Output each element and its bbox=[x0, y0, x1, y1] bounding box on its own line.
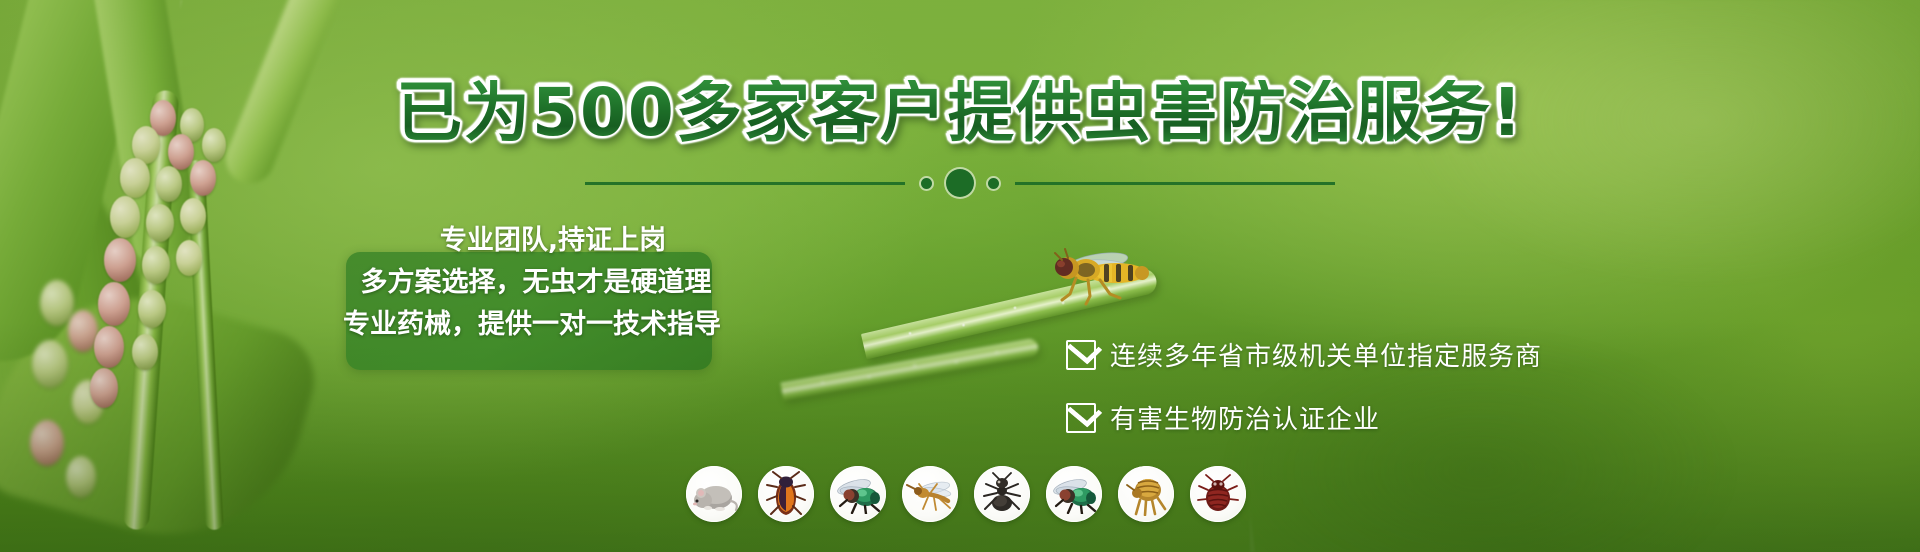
decorative-divider bbox=[0, 166, 1920, 200]
credentials-checklist: 连续多年省市级机关单位指定服务商 有害生物防治认证企业 bbox=[1066, 336, 1542, 436]
pest-icon-blowfly[interactable] bbox=[830, 466, 886, 522]
divider-dot-small-left bbox=[921, 178, 932, 189]
credential-item-1: 连续多年省市级机关单位指定服务商 bbox=[1066, 336, 1542, 373]
pest-icon-ant[interactable] bbox=[974, 466, 1030, 522]
promo-banner: 已为500多家客户提供虫害防治服务! 专业团队,持证上岗 多方案选择，无虫才是硬… bbox=[0, 0, 1920, 552]
checkbox-checked-icon bbox=[1066, 403, 1096, 433]
credential-label-2: 有害生物防治认证企业 bbox=[1110, 399, 1380, 436]
divider-dots bbox=[921, 169, 999, 197]
pest-icon-flea[interactable] bbox=[1118, 466, 1174, 522]
pest-icon-blowfly-2[interactable] bbox=[1046, 466, 1102, 522]
checkbox-checked-icon bbox=[1066, 340, 1096, 370]
credential-item-2: 有害生物防治认证企业 bbox=[1066, 399, 1542, 436]
divider-dot-large bbox=[946, 169, 974, 197]
selling-point-2: 多方案选择，无虫才是硬道理 bbox=[342, 266, 722, 300]
pest-type-icon-row bbox=[686, 466, 1246, 522]
selling-point-3: 专业药械，提供一对一技术指导 bbox=[342, 308, 722, 342]
pest-icon-bedbug[interactable] bbox=[1190, 466, 1246, 522]
selling-points-panel: 专业团队,持证上岗 多方案选择，无虫才是硬道理 专业药械，提供一对一技术指导 bbox=[346, 252, 712, 370]
banner-headline: 已为500多家客户提供虫害防治服务! bbox=[0, 80, 1920, 146]
credential-label-1: 连续多年省市级机关单位指定服务商 bbox=[1110, 336, 1542, 373]
headline-text: 已为500多家客户提供虫害防治服务! bbox=[396, 80, 1524, 146]
divider-dot-small-right bbox=[988, 178, 999, 189]
divider-rule-right bbox=[1015, 182, 1335, 185]
selling-point-1: 专业团队,持证上岗 bbox=[342, 224, 722, 258]
pest-icon-cockroach[interactable] bbox=[758, 466, 814, 522]
pest-icon-mosquito[interactable] bbox=[902, 466, 958, 522]
pest-icon-mouse[interactable] bbox=[686, 466, 742, 522]
divider-rule-left bbox=[585, 182, 905, 185]
